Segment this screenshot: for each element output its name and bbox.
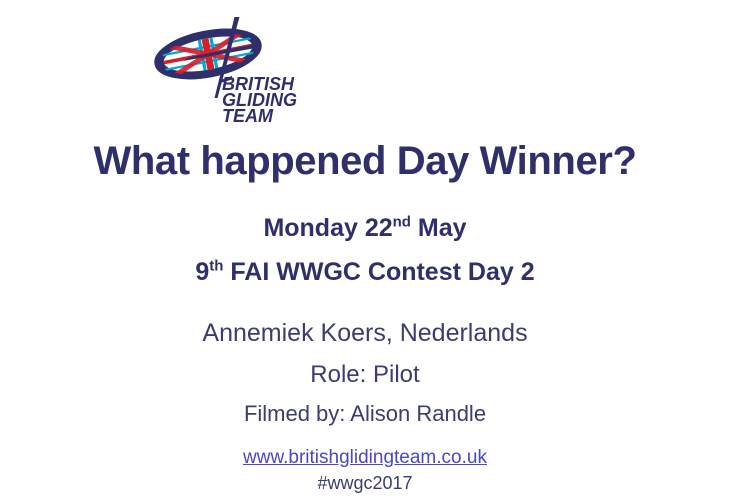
logo-svg: BRITISH GLIDING TEAM: [150, 14, 340, 124]
logo-wordmark: BRITISH GLIDING TEAM: [222, 74, 297, 124]
british-gliding-team-logo: BRITISH GLIDING TEAM: [150, 14, 340, 124]
subtitle-date: Monday 22nd May: [0, 214, 730, 243]
subtitle-event-suffix: FAI WWGC Contest Day 2: [223, 258, 534, 286]
subtitle-date-suffix: May: [411, 214, 467, 242]
slide-title: What happened Day Winner?: [0, 139, 730, 183]
hashtag-label: #wwgc2017: [0, 473, 730, 494]
website-link[interactable]: www.britishglidingteam.co.uk: [0, 447, 730, 469]
credit-person: Annemiek Koers, Nederlands: [0, 319, 730, 348]
subtitle-event: 9th FAI WWGC Contest Day 2: [0, 258, 730, 287]
logo-line-3: TEAM: [222, 106, 274, 124]
subtitle-date-prefix: Monday 22: [263, 214, 392, 242]
credit-role: Role: Pilot: [0, 361, 730, 389]
subtitle-event-prefix: 9: [195, 258, 209, 286]
subtitle-date-ordinal: nd: [393, 214, 411, 231]
credit-filmed-by: Filmed by: Alison Randle: [0, 401, 730, 426]
subtitle-event-ordinal: th: [209, 258, 223, 275]
presentation-slide: BRITISH GLIDING TEAM What happened Day W…: [0, 0, 730, 500]
